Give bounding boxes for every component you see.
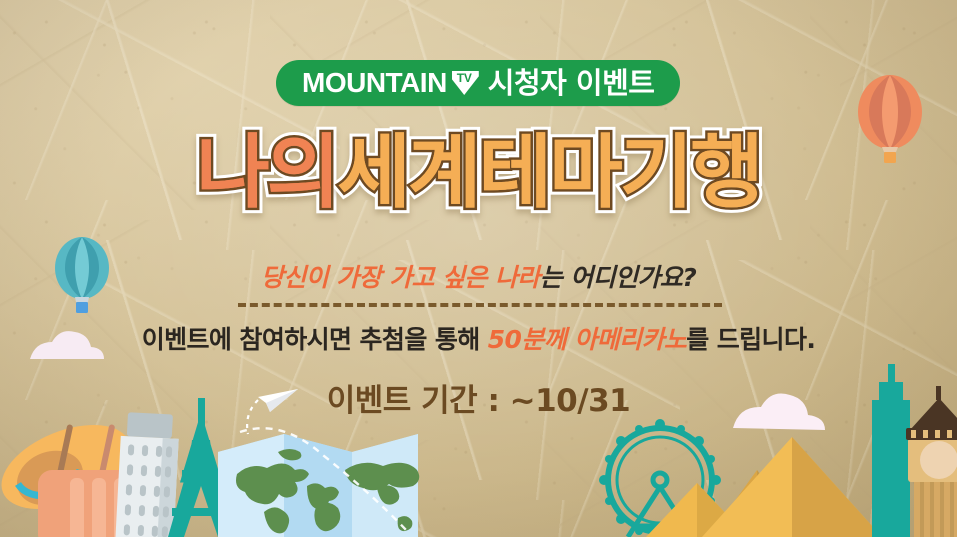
content-layer: MOUNTAIN TV 시청자 이벤트 나의 세계테마기행 나의 세계테마기행 … <box>0 0 957 537</box>
tv-logo-label: TV <box>457 72 472 84</box>
event-period-line: 이벤트 기간 : ~10/31 <box>0 384 957 418</box>
body-suffix: 를 드립니다. <box>686 325 815 354</box>
question-line: 당신이 가장 가고 싶은 나라는 어디인가요? <box>0 264 957 292</box>
main-title: 나의 세계테마기행 <box>0 133 957 213</box>
badge-korean-label: 시청자 이벤트 <box>488 69 655 98</box>
brand-name-label: MOUNTAIN <box>302 69 447 97</box>
body-line: 이벤트에 참여하시면 추첨을 통해 50분께 아메리카노를 드립니다. <box>0 326 957 354</box>
main-title-part2: 세계테마기행 <box>337 133 761 213</box>
main-title-part1: 나의 <box>196 133 337 213</box>
body-highlight: 50분께 아메리카노 <box>488 325 687 354</box>
dashed-divider <box>238 303 722 307</box>
tv-logo-icon: TV <box>452 71 479 95</box>
event-badge: MOUNTAIN TV 시청자 이벤트 <box>276 60 680 106</box>
question-highlight: 당신이 가장 가고 싶은 나라 <box>261 263 540 292</box>
body-prefix: 이벤트에 참여하시면 추첨을 통해 <box>142 325 488 354</box>
question-plain: 는 어디인가요? <box>540 263 696 292</box>
event-banner: MOUNTAIN TV 시청자 이벤트 나의 세계테마기행 나의 세계테마기행 … <box>0 0 957 537</box>
